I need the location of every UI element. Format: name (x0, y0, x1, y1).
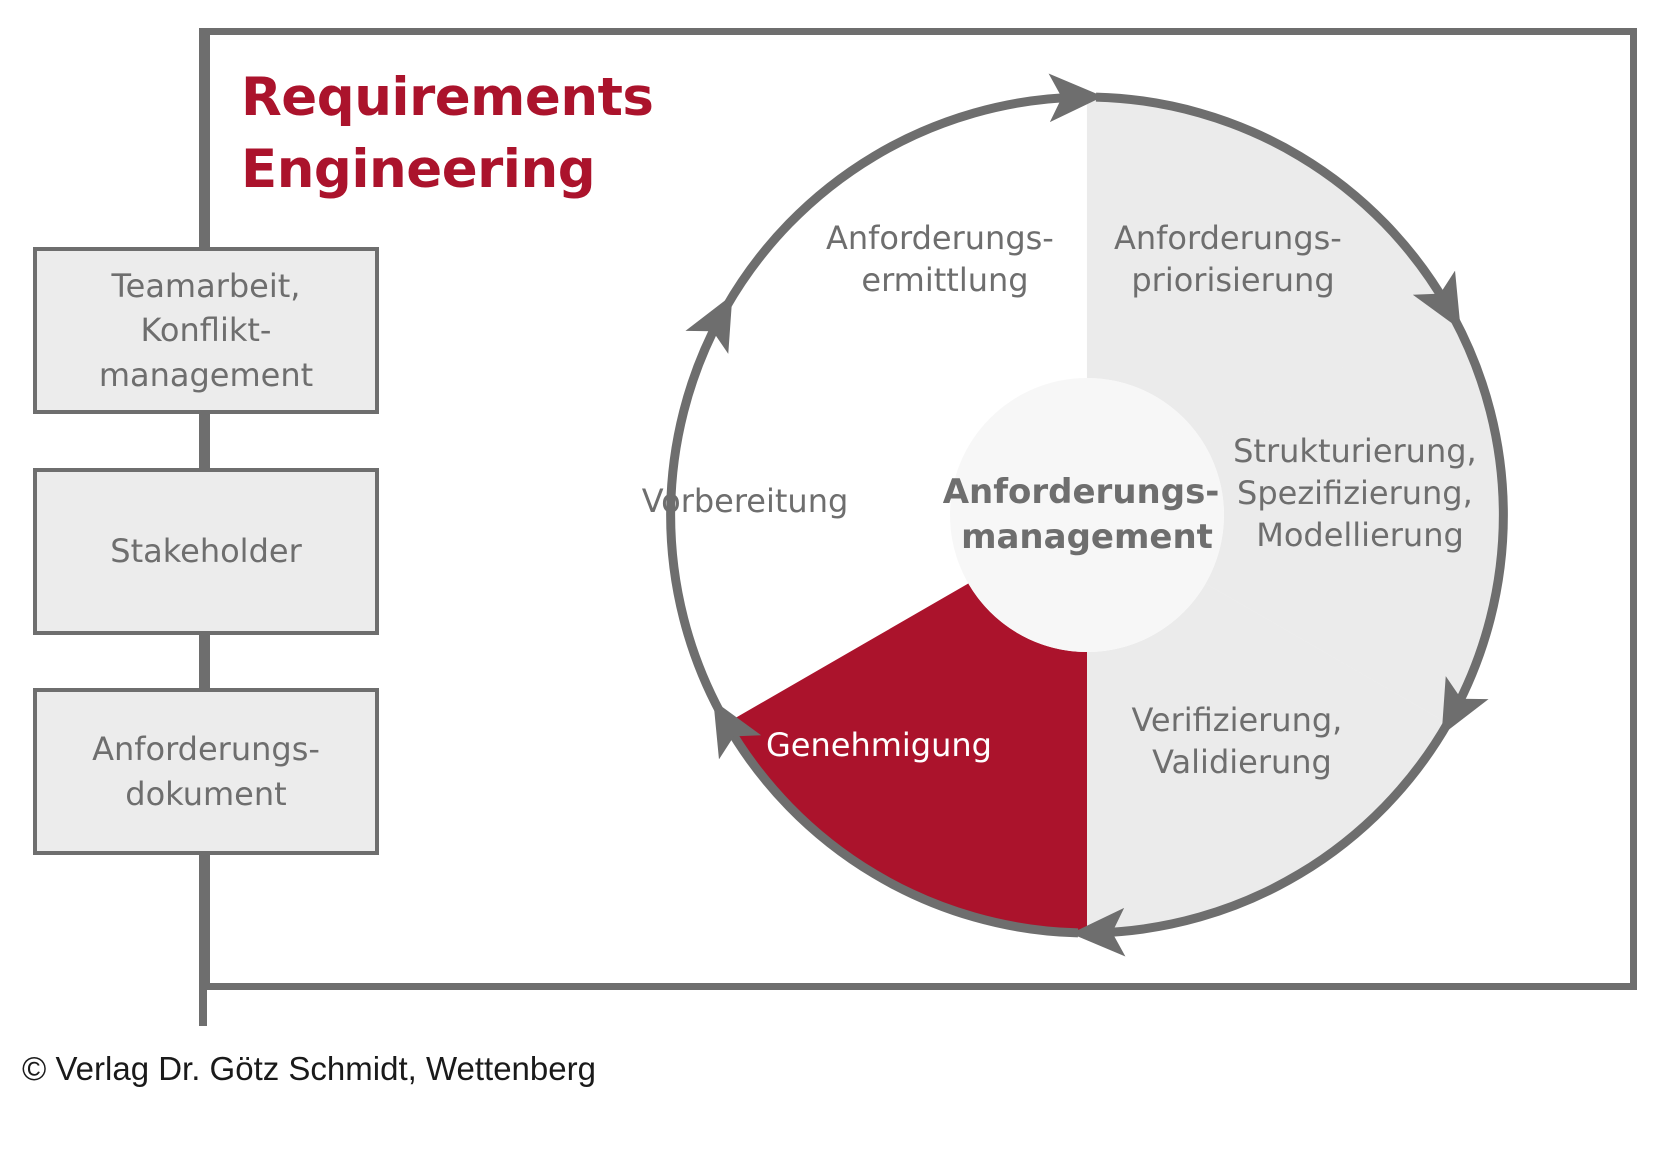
segment-label-vorbereitung: Vorbereitung (642, 482, 849, 520)
segment-label-line: Genehmigung (766, 726, 992, 764)
hub-label-line: Anforderungs- (943, 472, 1220, 512)
segment-label-line: Strukturierung, (1233, 432, 1477, 470)
left-box-label: Stakeholder (110, 529, 301, 573)
segment-label-line: Modellierung (1256, 516, 1464, 554)
wheel-hub (950, 378, 1224, 652)
segment-label-genehmigung: Genehmigung (766, 726, 992, 764)
segment-label-line: Verifizierung, (1131, 701, 1342, 739)
hub-label-line: management (961, 517, 1213, 557)
segment-label-line: ermittlung (861, 261, 1028, 299)
segment-label-line: priorisierung (1131, 261, 1334, 299)
segment-label-line: Validierung (1152, 743, 1332, 781)
segment-label-line: Vorbereitung (642, 482, 849, 520)
segment-label-line: Anforderungs- (826, 219, 1054, 257)
requirements-cycle-wheel: Anforderungs- ermittlung Anforderungs- p… (600, 40, 1580, 990)
diagram-root: Requirements Engineering Teamarbeit, Kon… (0, 0, 1655, 1153)
left-box-label: Anforderungs- dokument (92, 727, 320, 815)
left-box-teamarbeit: Teamarbeit, Konflikt- management (33, 247, 379, 414)
segment-label-line: Anforderungs- (1114, 219, 1342, 257)
segment-label-anforderungsermittlung: Anforderungs- ermittlung (826, 219, 1064, 299)
left-box-anforderungsdokument: Anforderungs- dokument (33, 688, 379, 855)
left-box-stakeholder: Stakeholder (33, 468, 379, 635)
left-box-label: Teamarbeit, Konflikt- management (99, 264, 313, 396)
segment-label-strukturierung: Strukturierung, Spezifizierung, Modellie… (1233, 432, 1487, 554)
segment-label-line: Spezifizierung, (1237, 474, 1473, 512)
copyright-footer: © Verlag Dr. Götz Schmidt, Wettenberg (22, 1050, 596, 1088)
